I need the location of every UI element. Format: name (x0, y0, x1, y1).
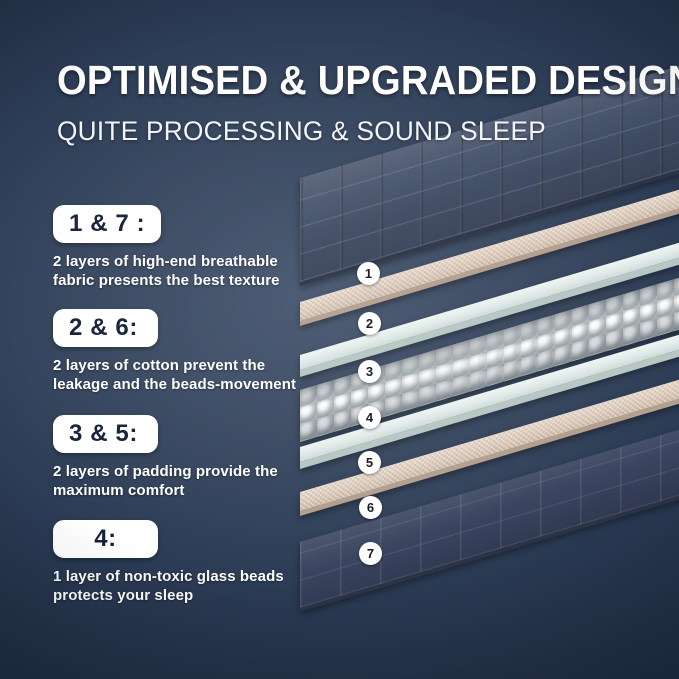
callout-label-2-6: 2 & 6: (69, 316, 138, 340)
callout-description-1-7: 2 layers of high-end breathable fabric p… (53, 252, 303, 290)
callout-pill-1-7: 1 & 7 : (53, 205, 161, 243)
callout-pill-2-6: 2 & 6: (53, 309, 158, 347)
layer-badge-7: 7 (359, 542, 382, 565)
layer-badge-6: 6 (359, 496, 382, 519)
callout-label-4: 4: (94, 527, 117, 551)
callout-pill-4: 4: (53, 520, 158, 558)
callout-item-2-6: 2 & 6: 2 layers of cotton prevent the le… (53, 309, 353, 394)
heading-block: OPTIMISED & UPGRADED DESIGN QUITE PROCES… (57, 57, 657, 147)
callout-item-4: 4: 1 layer of non-toxic glass beads prot… (53, 520, 353, 605)
product-infographic: 1 2 3 4 5 6 7 OPTIMISED & UPGRADED DESIG… (0, 0, 679, 679)
callout-item-3-5: 3 & 5: 2 layers of padding provide the m… (53, 415, 353, 500)
callout-label-3-5: 3 & 5: (69, 422, 138, 446)
layer-badge-5: 5 (358, 451, 381, 474)
callout-description-3-5: 2 layers of padding provide the maximum … (53, 462, 303, 500)
callout-pill-3-5: 3 & 5: (53, 415, 158, 453)
callout-description-2-6: 2 layers of cotton prevent the leakage a… (53, 356, 303, 394)
exploded-layer-diagram (300, 150, 679, 630)
callout-label-1-7: 1 & 7 : (69, 212, 145, 236)
layer-badge-1: 1 (357, 262, 380, 285)
page-title: OPTIMISED & UPGRADED DESIGN (57, 57, 615, 103)
page-subtitle: QUITE PROCESSING & SOUND SLEEP (57, 116, 639, 147)
callout-item-1-7: 1 & 7 : 2 layers of high-end breathable … (53, 205, 353, 290)
layer-badge-2: 2 (358, 312, 381, 335)
callout-description-4: 1 layer of non-toxic glass beads protect… (53, 567, 303, 605)
layer-badge-3: 3 (358, 360, 381, 383)
layer-badge-4: 4 (358, 406, 381, 429)
